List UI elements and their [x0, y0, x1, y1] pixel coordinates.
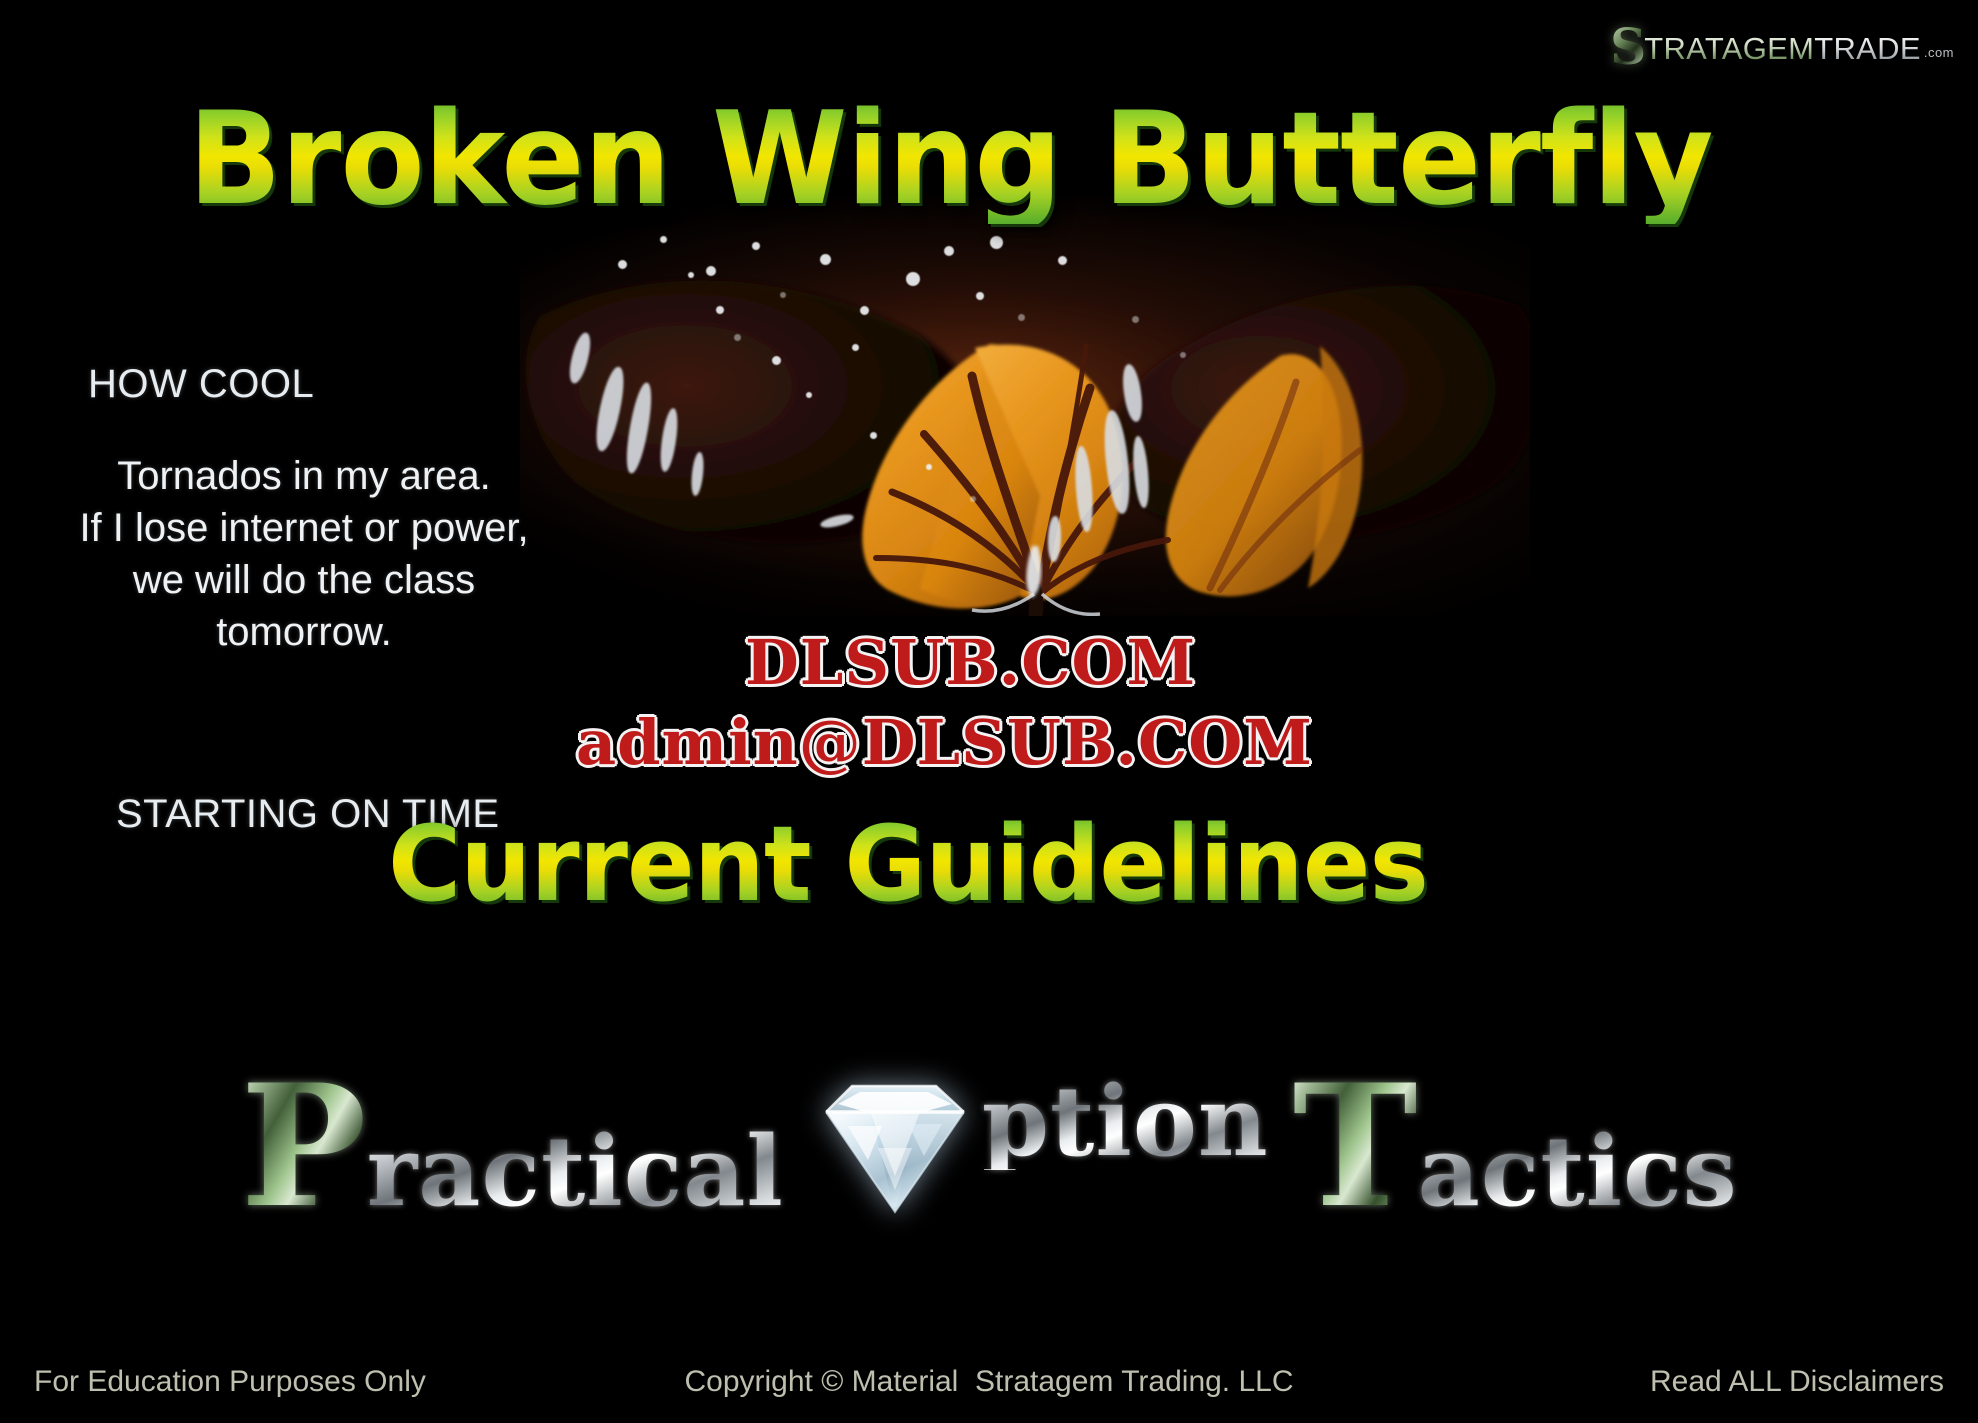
note-body: Tornados in my area. If I lose internet … — [34, 450, 574, 658]
watermark-site: DLSUB.COM — [745, 626, 1196, 699]
footer-disclaimers: Read ALL Disclaimers — [1650, 1365, 1944, 1399]
note-line: Tornados in my area. — [34, 450, 574, 502]
diamond-gem-svg — [808, 1064, 980, 1216]
footer-copyright: Copyright © Material Stratagem Trading. … — [684, 1365, 1293, 1399]
logo-rest-ption: ption — [982, 1074, 1269, 1170]
slide-title: Broken Wing Butterfly — [188, 96, 1713, 224]
slide-subtitle: Current Guidelines — [388, 812, 1428, 916]
logo-cap-t: T — [1293, 1069, 1418, 1224]
practical-option-tactics-logo: P ractical — [0, 1046, 1978, 1246]
brand-mark-letter: S — [1610, 22, 1646, 72]
note-line: tomorrow. — [34, 606, 574, 658]
note-heading: HOW COOL — [88, 362, 314, 407]
note-line: we will do the class — [34, 554, 574, 606]
logo-rest-actics: actics — [1418, 1124, 1738, 1220]
brand-wordmark: TRATAGEM TRADE .com — [1644, 32, 1954, 72]
brand-name-part1: TRATAGEM — [1644, 32, 1814, 66]
logo-cap-p: P — [240, 1069, 366, 1224]
footer-education-notice: For Education Purposes Only — [34, 1365, 426, 1399]
monarch-butterfly-photo — [520, 196, 1530, 616]
brand-tld: .com — [1924, 36, 1954, 70]
stratagem-s-mark-icon: S — [1613, 22, 1643, 72]
butterfly-illustration — [520, 196, 1530, 616]
note-line: If I lose internet or power, — [34, 502, 574, 554]
brand-name-part2: TRADE — [1814, 32, 1921, 66]
diamond-gem-icon — [808, 1064, 980, 1216]
stratagemtrade-logo: S TRATAGEM TRADE .com — [1613, 16, 1954, 72]
logo-word-practical: P ractical — [240, 1069, 784, 1224]
footer: For Education Purposes Only Copyright © … — [0, 1365, 1978, 1405]
slide-canvas: S TRATAGEM TRADE .com Broken Wing Butter… — [0, 0, 1978, 1423]
logo-word-option: ption — [808, 1074, 1269, 1218]
logo-rest-ractical: ractical — [367, 1124, 784, 1220]
watermark-email: admin@DLSUB.COM — [576, 706, 1313, 779]
logo-word-tactics: T actics — [1293, 1069, 1738, 1224]
